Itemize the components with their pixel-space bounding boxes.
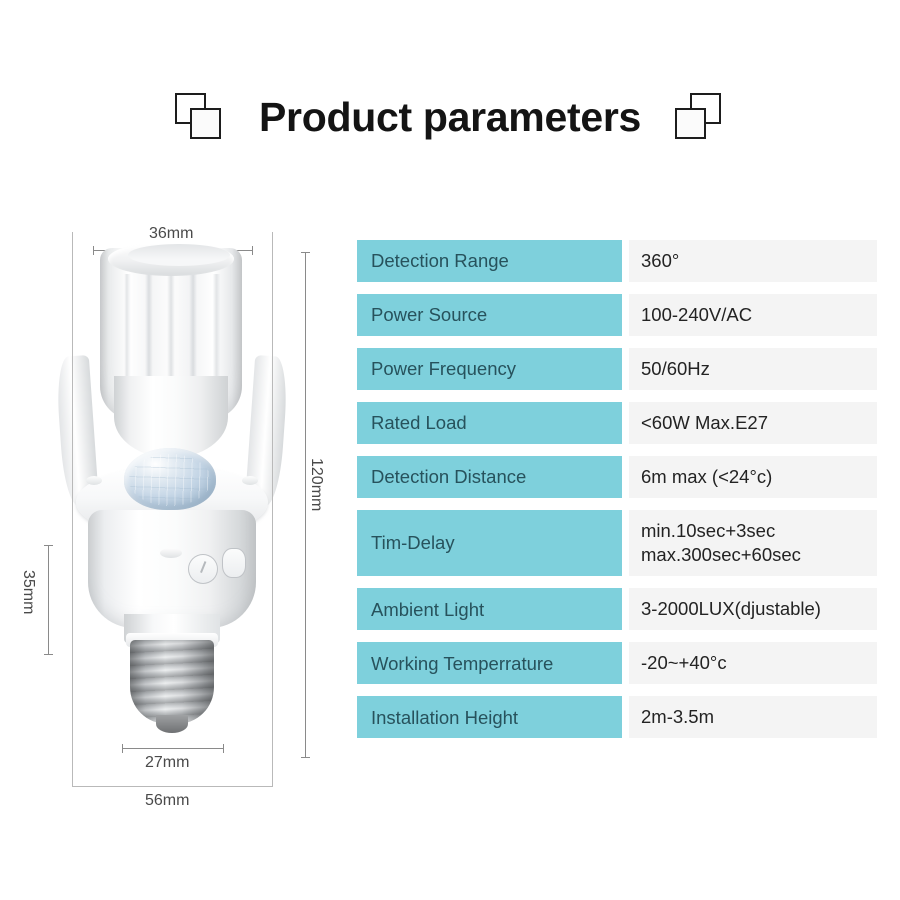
adjuster-dial — [222, 548, 246, 578]
spec-value: 6m max (<24°c) — [629, 456, 877, 498]
socket-rim-inner — [128, 244, 230, 266]
spec-label: Detection Range — [357, 240, 622, 282]
socket-rim — [108, 242, 234, 276]
spec-value-line: 6m max (<24°c) — [641, 465, 877, 489]
page-title: Product parameters — [259, 97, 641, 138]
dimension-line-sensor-height — [48, 545, 49, 655]
table-row: Rated Load <60W Max.E27 — [357, 402, 877, 444]
dimension-label-base-width: 27mm — [145, 755, 189, 771]
spec-value-line: <60W Max.E27 — [641, 411, 877, 435]
product-photo — [72, 248, 272, 758]
spec-value: 100-240V/AC — [629, 294, 877, 336]
screw-boss — [86, 476, 102, 485]
spec-label: Power Source — [357, 294, 622, 336]
bracket-line-bottom — [72, 786, 273, 787]
spec-label: Installation Height — [357, 696, 622, 738]
spec-label: Working Temperrature — [357, 642, 622, 684]
dimension-label-sensor-height: 35mm — [20, 570, 36, 614]
dimension-line-overall-height — [305, 252, 306, 758]
spec-value-line: 3-2000LUX(djustable) — [641, 597, 877, 621]
table-row: Power Frequency 50/60Hz — [357, 348, 877, 390]
spec-label: Rated Load — [357, 402, 622, 444]
dimension-label-overall-width: 56mm — [145, 793, 189, 809]
table-row: Detection Range 360° — [357, 240, 877, 282]
adjuster-dial — [188, 554, 218, 584]
table-row: Working Temperrature -20~+40°c — [357, 642, 877, 684]
product-parameters-page: Product parameters 36mm 120mm 35mm — [0, 0, 900, 900]
overlapping-squares-icon — [175, 91, 225, 143]
spec-value-line: min.10sec+3sec — [641, 519, 877, 543]
square-front — [190, 108, 221, 139]
table-row: Power Source 100-240V/AC — [357, 294, 877, 336]
spec-value: 3-2000LUX(djustable) — [629, 588, 877, 630]
spec-label: Detection Distance — [357, 456, 622, 498]
table-row: Ambient Light 3-2000LUX(djustable) — [357, 588, 877, 630]
square-front — [675, 108, 706, 139]
spec-label: Tim-Delay — [357, 510, 622, 576]
specification-table: Detection Range 360° Power Source 100-24… — [357, 240, 877, 750]
table-row: Tim-Delay min.10sec+3sec max.300sec+60se… — [357, 510, 877, 576]
dimension-label-top-width: 36mm — [149, 226, 193, 242]
pir-sensor-dome — [124, 448, 216, 510]
spec-value: 50/60Hz — [629, 348, 877, 390]
dimension-label-overall-height: 120mm — [308, 458, 324, 511]
spec-value-line: 2m-3.5m — [641, 705, 877, 729]
bracket-line-left — [72, 232, 73, 786]
screw-boss — [242, 476, 258, 485]
spec-value: -20~+40°c — [629, 642, 877, 684]
table-row: Installation Height 2m-3.5m — [357, 696, 877, 738]
product-illustration-panel: 36mm 120mm 35mm — [0, 210, 340, 820]
e27-screw-base — [130, 640, 214, 724]
fresnel-facets — [129, 454, 211, 506]
bracket-line-right — [272, 232, 273, 786]
spec-label: Ambient Light — [357, 588, 622, 630]
socket-head-bulge — [114, 376, 228, 458]
spec-value: min.10sec+3sec max.300sec+60sec — [629, 510, 877, 576]
table-row: Detection Distance 6m max (<24°c) — [357, 456, 877, 498]
spec-value-line: 100-240V/AC — [641, 303, 877, 327]
spec-value: 2m-3.5m — [629, 696, 877, 738]
base-contact-tip — [156, 715, 188, 733]
spec-value: <60W Max.E27 — [629, 402, 877, 444]
page-header: Product parameters — [0, 84, 900, 150]
spec-value-line: max.300sec+60sec — [641, 543, 877, 567]
spec-value-line: -20~+40°c — [641, 651, 877, 675]
spec-value: 360° — [629, 240, 877, 282]
spec-value-line: 50/60Hz — [641, 357, 877, 381]
screw-boss — [160, 548, 182, 558]
base-threads — [130, 640, 214, 724]
spec-label: Power Frequency — [357, 348, 622, 390]
dimension-line-base-width — [122, 748, 224, 749]
overlapping-squares-icon — [675, 91, 725, 143]
spec-value-line: 360° — [641, 249, 877, 273]
dial-slot — [200, 561, 206, 573]
